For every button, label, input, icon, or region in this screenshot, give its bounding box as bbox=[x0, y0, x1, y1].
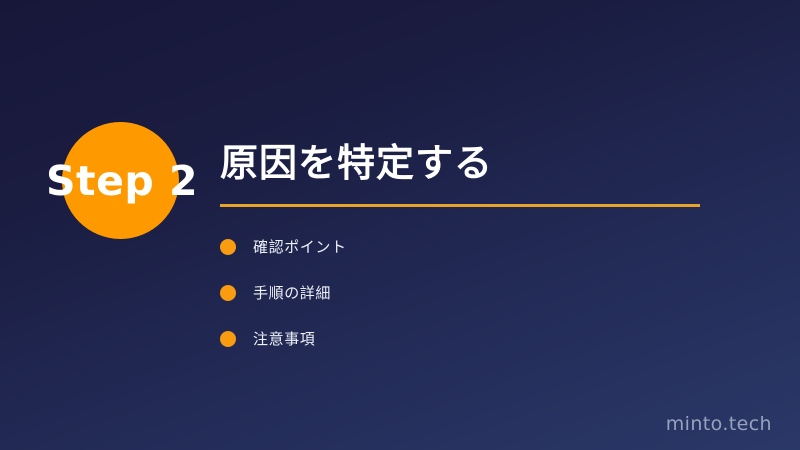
list-item-label: 手順の詳細 bbox=[253, 286, 331, 301]
bullet-dot-icon bbox=[220, 285, 236, 301]
title-block: 原因を特定する bbox=[220, 140, 720, 207]
bullet-dot-icon bbox=[220, 331, 236, 347]
slide-canvas: Step 2 原因を特定する 確認ポイント 手順の詳細 注意事項 minto.t… bbox=[0, 0, 800, 450]
title-divider bbox=[220, 204, 700, 207]
list-item: 注意事項 bbox=[220, 327, 347, 351]
page-title: 原因を特定する bbox=[220, 140, 720, 188]
bullet-dot-icon bbox=[220, 239, 236, 255]
step-label: Step 2 bbox=[47, 122, 197, 240]
list-item: 確認ポイント bbox=[220, 235, 347, 259]
step-badge: Step 2 bbox=[47, 122, 197, 240]
footer-watermark: minto.tech bbox=[666, 415, 772, 434]
list-item-label: 確認ポイント bbox=[253, 240, 347, 255]
list-item: 手順の詳細 bbox=[220, 281, 347, 305]
bullet-list: 確認ポイント 手順の詳細 注意事項 bbox=[220, 235, 347, 373]
list-item-label: 注意事項 bbox=[253, 332, 315, 347]
